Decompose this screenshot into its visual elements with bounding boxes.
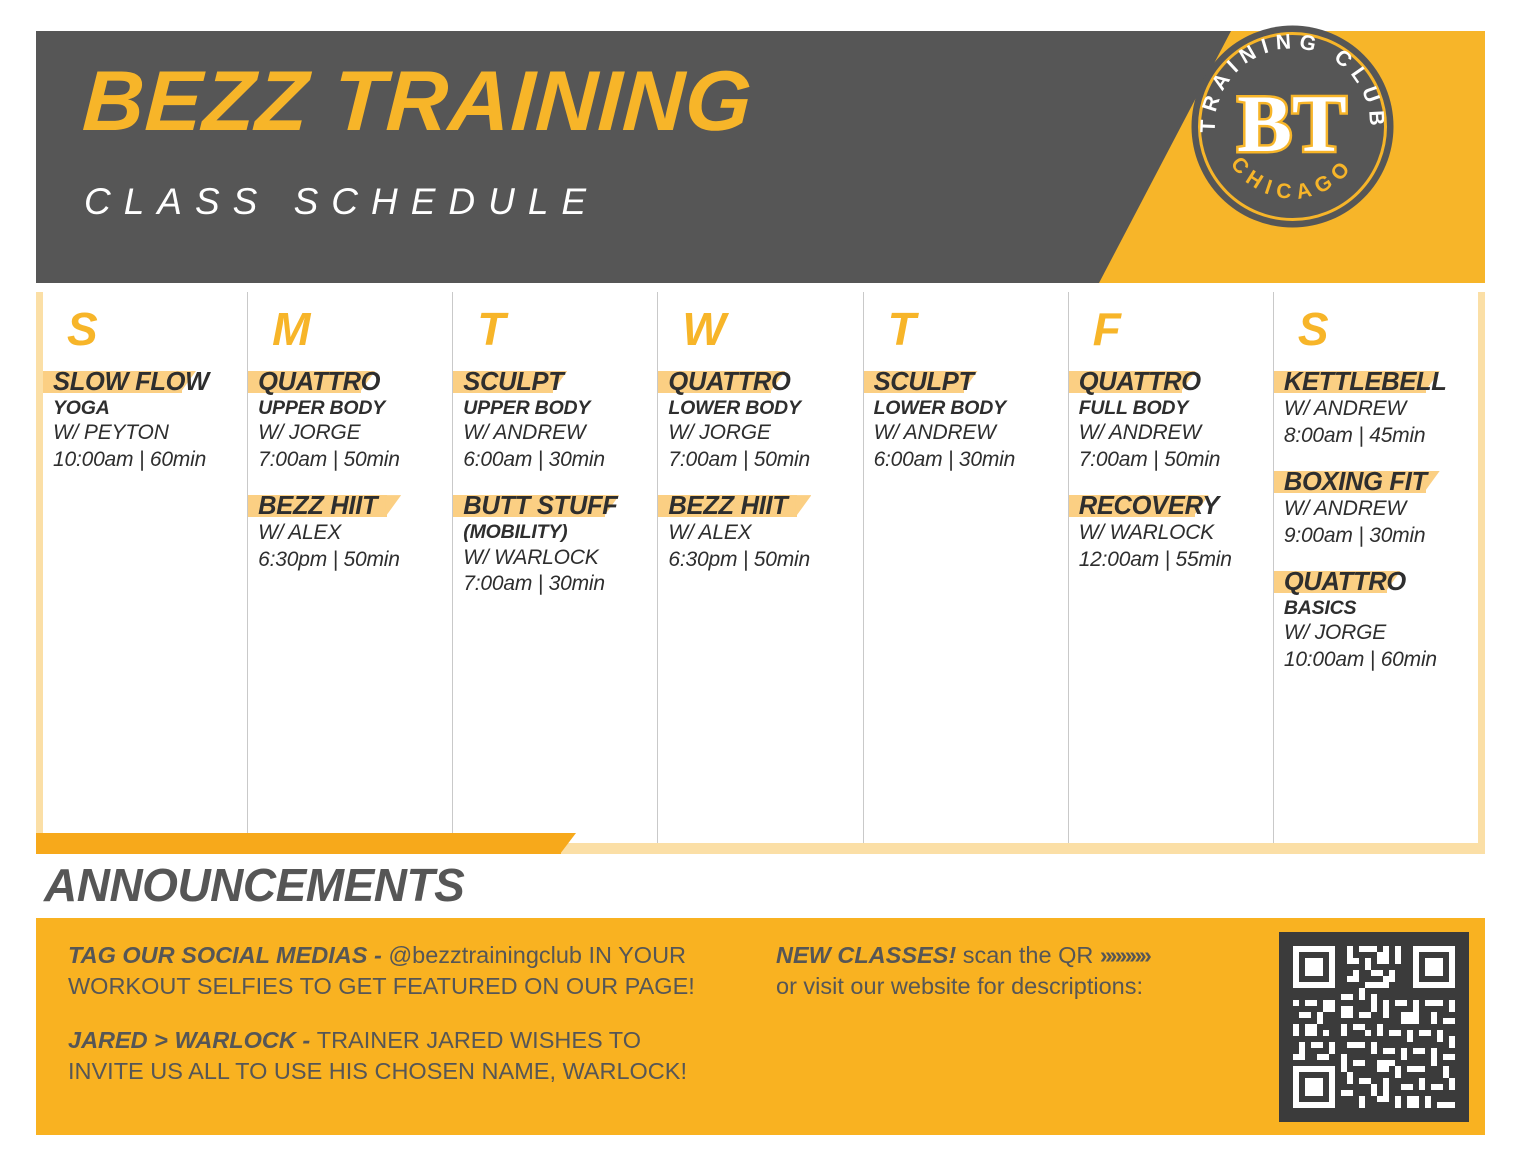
chevron-right-icon: »»»»» (1100, 942, 1149, 968)
class-entry[interactable]: QUATTROUPPER BODYW/ JORGE7:00am | 50min (258, 368, 444, 474)
announcements-panel: TAG OUR SOCIAL MEDIAS - @bezztrainingclu… (36, 918, 1485, 1135)
class-subtitle: BASICS (1284, 596, 1470, 620)
day-column: TSCULPTLOWER BODYW/ ANDREW6:00am | 30min (863, 292, 1068, 852)
class-subtitle: UPPER BODY (463, 396, 649, 420)
new-classes-line-2: or visit our website for descriptions: (776, 971, 1276, 1002)
class-title: BEZZ HIIT (258, 492, 444, 520)
class-title: QUATTRO (668, 368, 854, 396)
class-trainer: W/ ANDREW (463, 420, 649, 447)
day-column: MQUATTROUPPER BODYW/ JORGE7:00am | 50min… (247, 292, 452, 852)
day-column: TSCULPTUPPER BODYW/ ANDREW6:00am | 30min… (452, 292, 657, 852)
svg-text:BT: BT (1237, 78, 1346, 169)
class-title: BEZZ HIIT (668, 492, 854, 520)
class-list: KETTLEBELLW/ ANDREW8:00am | 45minBOXING … (1284, 368, 1470, 674)
new-classes-block: NEW CLASSES! scan the QR »»»»» or visit … (776, 940, 1276, 1002)
class-subtitle: FULL BODY (1079, 396, 1265, 420)
grid-left-accent (36, 292, 43, 852)
class-subtitle: (MOBILITY) (463, 520, 649, 544)
grid-right-accent (1478, 292, 1485, 852)
class-time: 8:00am | 45min (1284, 423, 1470, 450)
class-entry[interactable]: SCULPTUPPER BODYW/ ANDREW6:00am | 30min (463, 368, 649, 474)
day-column: FQUATTROFULL BODYW/ ANDREW7:00am | 50min… (1068, 292, 1273, 852)
class-entry[interactable]: QUATTROFULL BODYW/ ANDREW7:00am | 50min (1079, 368, 1265, 474)
class-time: 7:00am | 50min (1079, 447, 1265, 474)
class-trainer: W/ JORGE (1284, 620, 1470, 647)
class-entry[interactable]: KETTLEBELLW/ ANDREW8:00am | 45min (1284, 368, 1470, 450)
class-trainer: W/ WARLOCK (1079, 520, 1265, 547)
day-letter: T (477, 306, 649, 368)
class-title: BOXING FIT (1284, 468, 1470, 496)
day-letter: W (682, 306, 854, 368)
schedule-poster: BEZZ TRAINING CLASS SCHEDULE TRAINING CL… (0, 0, 1523, 1167)
class-subtitle: UPPER BODY (258, 396, 444, 420)
class-time: 6:30pm | 50min (258, 547, 444, 574)
brand-title: BEZZ TRAINING (81, 59, 755, 144)
class-subtitle: LOWER BODY (874, 396, 1060, 420)
class-title: KETTLEBELL (1284, 368, 1470, 396)
schedule-grid: SSLOW FLOWYOGAW/ PEYTON10:00am | 60minMQ… (36, 292, 1485, 852)
announcements-heading: ANNOUNCEMENTS (44, 862, 464, 908)
new-classes-line-1: NEW CLASSES! scan the QR »»»»» (776, 940, 1276, 971)
new-classes-scan-text: scan the QR (963, 942, 1094, 968)
new-classes-lead: NEW CLASSES! (776, 942, 956, 968)
class-time: 6:30pm | 50min (668, 547, 854, 574)
class-trainer: W/ ANDREW (1284, 396, 1470, 423)
class-entry[interactable]: BEZZ HIITW/ ALEX6:30pm | 50min (668, 492, 854, 574)
class-entry[interactable]: SLOW FLOWYOGAW/ PEYTON10:00am | 60min (53, 368, 239, 474)
class-trainer: W/ ANDREW (1284, 496, 1470, 523)
class-entry[interactable]: QUATTROLOWER BODYW/ JORGE7:00am | 50min (668, 368, 854, 474)
qr-code[interactable] (1279, 932, 1469, 1122)
class-entry[interactable]: BUTT STUFF(MOBILITY)W/ WARLOCK7:00am | 3… (463, 492, 649, 598)
bt-training-club-logo: TRAINING CLUB CHICAGO BT (1185, 19, 1400, 234)
class-trainer: W/ JORGE (668, 420, 854, 447)
class-list: QUATTROFULL BODYW/ ANDREW7:00am | 50minR… (1079, 368, 1265, 574)
class-list: SCULPTUPPER BODYW/ ANDREW6:00am | 30minB… (463, 368, 649, 598)
day-column: SKETTLEBELLW/ ANDREW8:00am | 45minBOXING… (1273, 292, 1478, 852)
class-title: SLOW FLOW (53, 368, 239, 396)
class-time: 10:00am | 60min (53, 447, 239, 474)
class-list: SCULPTLOWER BODYW/ ANDREW6:00am | 30min (874, 368, 1060, 474)
class-trainer: W/ ALEX (668, 520, 854, 547)
class-time: 12:00am | 55min (1079, 547, 1265, 574)
class-time: 6:00am | 30min (874, 447, 1060, 474)
class-trainer: W/ JORGE (258, 420, 444, 447)
day-letter: T (888, 306, 1060, 368)
class-trainer: W/ ANDREW (1079, 420, 1265, 447)
class-title: BUTT STUFF (463, 492, 649, 520)
class-list: SLOW FLOWYOGAW/ PEYTON10:00am | 60min (53, 368, 239, 474)
class-entry[interactable]: QUATTROBASICSW/ JORGE10:00am | 60min (1284, 568, 1470, 674)
class-trainer: W/ WARLOCK (463, 545, 649, 572)
class-entry[interactable]: RECOVERYW/ WARLOCK12:00am | 55min (1079, 492, 1265, 574)
day-columns: SSLOW FLOWYOGAW/ PEYTON10:00am | 60minMQ… (43, 292, 1478, 852)
class-entry[interactable]: BEZZ HIITW/ ALEX6:30pm | 50min (258, 492, 444, 574)
class-list: QUATTROUPPER BODYW/ JORGE7:00am | 50minB… (258, 368, 444, 574)
announcement-text: TAG OUR SOCIAL MEDIAS - @bezztrainingclu… (68, 940, 708, 1003)
class-title: QUATTRO (1284, 568, 1470, 596)
class-list: QUATTROLOWER BODYW/ JORGE7:00am | 50minB… (668, 368, 854, 574)
day-letter: F (1093, 306, 1265, 368)
class-title: QUATTRO (258, 368, 444, 396)
class-entry[interactable]: BOXING FITW/ ANDREW9:00am | 30min (1284, 468, 1470, 550)
class-trainer: W/ PEYTON (53, 420, 239, 447)
class-time: 7:00am | 50min (258, 447, 444, 474)
class-time: 9:00am | 30min (1284, 523, 1470, 550)
day-column: WQUATTROLOWER BODYW/ JORGE7:00am | 50min… (657, 292, 862, 852)
day-letter: S (67, 306, 239, 368)
class-entry[interactable]: SCULPTLOWER BODYW/ ANDREW6:00am | 30min (874, 368, 1060, 474)
class-trainer: W/ ANDREW (874, 420, 1060, 447)
announcement-lead: TAG OUR SOCIAL MEDIAS - (68, 942, 388, 968)
class-title: RECOVERY (1079, 492, 1265, 520)
brand-subtitle: CLASS SCHEDULE (84, 183, 599, 220)
announcement-item: JARED > WARLOCK - TRAINER JARED WISHES T… (68, 1025, 708, 1088)
class-trainer: W/ ALEX (258, 520, 444, 547)
day-letter: M (272, 306, 444, 368)
grid-bottom-orange-bar (36, 833, 561, 854)
class-subtitle: YOGA (53, 396, 239, 420)
class-title: SCULPT (463, 368, 649, 396)
announcement-text: JARED > WARLOCK - TRAINER JARED WISHES T… (68, 1025, 708, 1088)
class-subtitle: LOWER BODY (668, 396, 854, 420)
class-time: 7:00am | 30min (463, 571, 649, 598)
day-letter: S (1298, 306, 1470, 368)
class-time: 6:00am | 30min (463, 447, 649, 474)
class-title: SCULPT (874, 368, 1060, 396)
announcement-lead: JARED > WARLOCK - (68, 1027, 317, 1053)
class-time: 10:00am | 60min (1284, 647, 1470, 674)
class-time: 7:00am | 50min (668, 447, 854, 474)
day-column: SSLOW FLOWYOGAW/ PEYTON10:00am | 60min (43, 292, 247, 852)
logo-monogram: BT (1237, 78, 1346, 169)
class-title: QUATTRO (1079, 368, 1265, 396)
announcements-list: TAG OUR SOCIAL MEDIAS - @bezztrainingclu… (68, 940, 708, 1109)
announcement-item: TAG OUR SOCIAL MEDIAS - @bezztrainingclu… (68, 940, 708, 1003)
